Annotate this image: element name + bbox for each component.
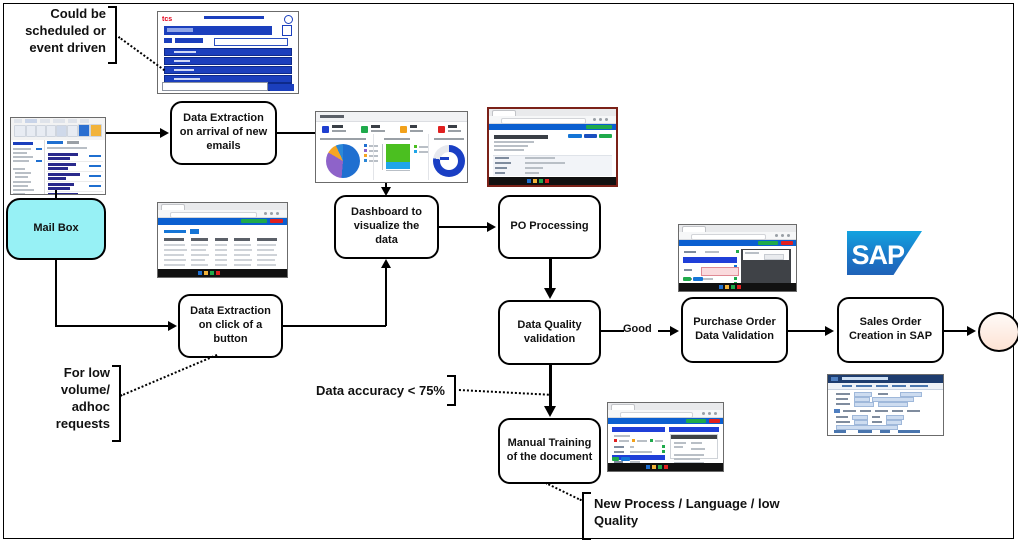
ribbon-tab: [14, 119, 22, 123]
footer-input[interactable]: [162, 82, 268, 91]
sap-window-title: [842, 377, 888, 380]
arrowhead: [381, 259, 391, 268]
bar-segment-green: [386, 144, 410, 162]
kpi-icon-blue: [322, 126, 329, 133]
node-label: PO Processing: [510, 220, 588, 234]
node-label: Data Extraction on arrival of new emails: [178, 112, 269, 153]
node-dq-validation[interactable]: Data Quality validation: [498, 300, 601, 365]
annotation-text: Could be scheduled or event driven: [25, 6, 106, 55]
edge-extract-email-right: [277, 132, 315, 134]
ribbon-tab-home: [25, 119, 37, 123]
status-chip-red: [709, 419, 720, 423]
bar-segment-blue: [386, 162, 410, 169]
taskbar: [158, 269, 287, 277]
edge-mailbox-right: [55, 325, 170, 327]
app-header: [679, 240, 796, 246]
arrowhead: [381, 187, 391, 196]
status-chip-green: [758, 241, 778, 245]
annotation-scheduled: Could be scheduled or event driven: [8, 6, 106, 57]
chart-title-order-trend: [384, 138, 410, 140]
node-label: Data Quality validation: [506, 319, 593, 347]
ribbon-button-flag[interactable]: [90, 124, 102, 137]
vend-label: [164, 38, 172, 43]
annotation-accuracy: Data accuracy < 75%: [305, 383, 445, 400]
screenshot-insight-dashboard: [315, 111, 468, 183]
edge-dashboard-to-po: [439, 226, 489, 228]
node-so-creation[interactable]: Sales Order Creation in SAP: [837, 297, 944, 363]
status-chip-green: [686, 419, 706, 423]
node-end-event[interactable]: [978, 312, 1018, 352]
submit-button[interactable]: [270, 84, 294, 91]
tcs-logo: tcs: [162, 16, 172, 23]
action-button[interactable]: [599, 134, 612, 138]
annotation-low-volume: For low volume/ adhoc requests: [28, 365, 110, 433]
review-po-title: [204, 16, 264, 19]
search-input[interactable]: [214, 38, 288, 46]
sap-registered-mark: ®: [909, 267, 913, 273]
mail-item[interactable]: [47, 152, 103, 162]
message-list[interactable]: [45, 140, 105, 194]
status-chip-green: [241, 219, 267, 223]
screenshot-review-po-data: tcs: [157, 11, 299, 94]
edge-mail-to-extract-email: [106, 132, 161, 134]
ribbon-tab: [80, 119, 89, 123]
ribbon-button[interactable]: [56, 125, 67, 137]
action-button[interactable]: [584, 134, 597, 138]
action-button[interactable]: [568, 134, 582, 138]
screenshot-sap-sales-order-gui: [827, 374, 944, 436]
table-badge: [190, 229, 199, 234]
node-label: Purchase Order Data Validation: [689, 316, 780, 344]
submit-button[interactable]: [621, 457, 630, 461]
mail-item[interactable]: [47, 162, 103, 172]
edge-podv-to-so: [788, 330, 826, 332]
ribbon-button-highlight[interactable]: [78, 124, 90, 137]
app-header: [158, 218, 287, 225]
ribbon-button[interactable]: [26, 125, 36, 137]
vend-value: [175, 38, 203, 43]
ribbon-tab: [40, 119, 50, 123]
annotation-bracket: [582, 492, 591, 540]
chart-title-straight-through: [434, 138, 464, 140]
edge-up-to-dashboard: [385, 268, 387, 326]
node-manual-training[interactable]: Manual Training of the document: [498, 418, 601, 484]
kpi-icon-green: [361, 126, 368, 133]
node-label: Dashboard to visualize the data: [342, 206, 431, 247]
status-chip-red: [270, 219, 283, 223]
portal-title: [494, 135, 548, 139]
left-panel-header: [612, 427, 665, 432]
right-panel-header: [669, 427, 719, 432]
search-icon: [282, 25, 292, 36]
node-extract-button[interactable]: Data Extraction on click of a button: [178, 294, 283, 358]
annotation-text: New Process / Language / low Quality: [594, 496, 780, 528]
taskbar: [489, 177, 616, 185]
diagram-canvas: tcs: [0, 0, 1018, 543]
po-row: [164, 48, 292, 56]
node-label: Data Extraction on click of a button: [186, 305, 275, 346]
arrowhead: [487, 222, 496, 232]
save-button[interactable]: [612, 457, 619, 461]
screenshot-po-validation-app: [678, 224, 797, 292]
kpi-icon-red: [438, 126, 445, 133]
selected-row[interactable]: [683, 257, 737, 263]
annotation-bracket: [112, 365, 121, 442]
pie-chart-orders-by-status: [326, 144, 360, 178]
folder-header: [13, 142, 33, 145]
screenshot-outlook-mailbox: [10, 117, 106, 195]
panel-footer: [612, 455, 665, 460]
ribbon-button[interactable]: [67, 125, 78, 137]
sap-logo: SAP ®: [847, 231, 922, 275]
edge-po-to-dq: [549, 259, 552, 291]
arrowhead: [160, 128, 169, 138]
dashboard-title: [320, 115, 344, 118]
action-button-blue[interactable]: [693, 277, 703, 281]
sap-logo-text: SAP: [852, 242, 905, 269]
arrowhead: [825, 326, 834, 336]
chart-title-orders-by-status: [320, 138, 366, 140]
arrowhead: [967, 326, 976, 336]
node-extract-email[interactable]: Data Extraction on arrival of new emails: [170, 101, 277, 165]
ribbon-button[interactable]: [36, 125, 46, 137]
edge-extract-button-right: [283, 325, 386, 327]
annotation-new-process: New Process / Language / low Quality: [594, 496, 824, 530]
donut-chart-straight-through: [433, 145, 465, 177]
annotation-bracket: [108, 6, 117, 64]
ribbon-tab: [53, 119, 65, 123]
po-row: [164, 57, 292, 65]
node-label: Mail Box: [33, 222, 78, 236]
annotation-bracket: [447, 375, 456, 406]
ribbon-button[interactable]: [46, 125, 56, 137]
edge-label-good: Good: [623, 323, 652, 335]
node-label: Sales Order Creation in SAP: [845, 316, 936, 344]
donut-value: [440, 157, 449, 160]
sap-menu-icon[interactable]: [831, 377, 838, 381]
node-label: Manual Training of the document: [506, 437, 593, 465]
node-po-processing[interactable]: PO Processing: [498, 195, 601, 259]
edge-mailbox-to-outlook: [55, 190, 57, 200]
screenshot-po-details-portal: [487, 107, 618, 187]
edge-mailbox-down: [55, 260, 57, 326]
help-icon: [284, 15, 293, 24]
mail-item[interactable]: [47, 172, 103, 182]
status-chip-red: [781, 241, 793, 245]
edge-dq-good: [601, 330, 624, 332]
arrowhead: [168, 321, 177, 331]
arrowhead: [544, 406, 556, 417]
annotation-text: For low volume/ adhoc requests: [56, 365, 110, 431]
status-chip-green: [586, 125, 612, 129]
edge-dq-to-manual: [549, 365, 552, 409]
screenshot-extraction-table: [157, 202, 288, 278]
po-row: [164, 66, 292, 74]
error-field[interactable]: [701, 267, 739, 276]
node-po-data-validation[interactable]: Purchase Order Data Validation: [681, 297, 788, 363]
folder-pane[interactable]: [11, 140, 45, 194]
kpi-icon-orange: [400, 126, 407, 133]
ribbon-tab: [68, 119, 77, 123]
node-dashboard[interactable]: Dashboard to visualize the data: [334, 195, 439, 259]
document-preview: [670, 434, 718, 459]
list-header: [47, 141, 63, 144]
po-select-value: [167, 28, 193, 32]
action-button-green[interactable]: [683, 277, 691, 281]
arrowhead: [544, 288, 556, 299]
arrowhead: [670, 326, 679, 336]
screenshot-manual-training-app: [607, 402, 724, 472]
list-filter: [67, 141, 79, 144]
table-title: [164, 230, 186, 233]
ribbon-button[interactable]: [14, 125, 26, 137]
annotation-text: Data accuracy < 75%: [316, 383, 445, 398]
node-mailbox[interactable]: Mail Box: [6, 198, 106, 260]
